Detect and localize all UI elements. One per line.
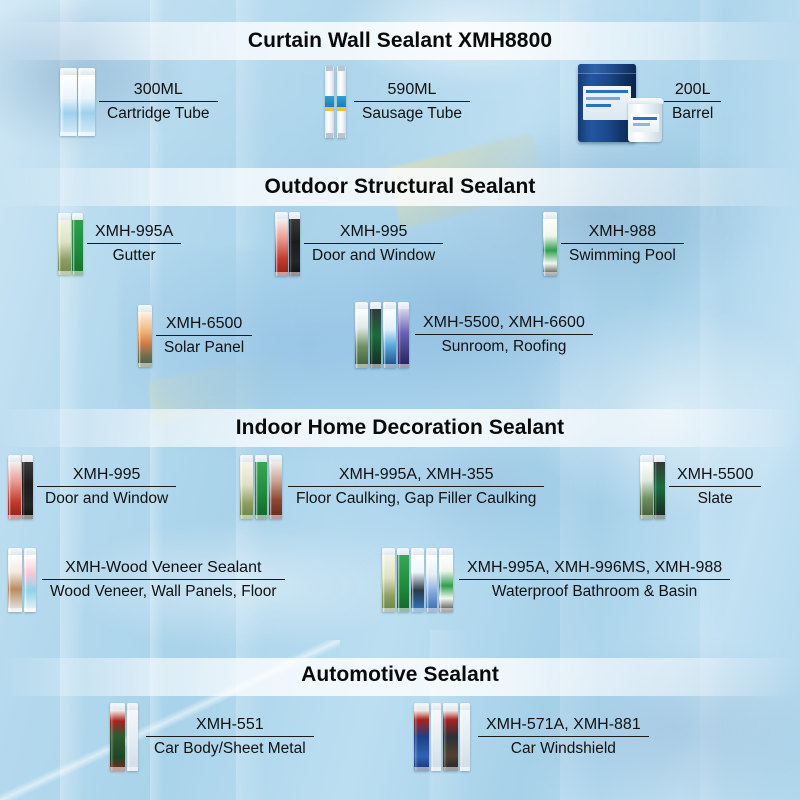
product-code: XMH-995 <box>332 222 416 243</box>
product-entry-xmh-995-door-window-indoor[interactable]: XMH-995 Door and Window <box>8 455 176 519</box>
product-labels: 200L Barrel <box>664 80 721 124</box>
product-image-tubes <box>240 455 282 519</box>
product-image-tubes <box>138 305 152 367</box>
product-labels: XMH-5500, XMH-6600 Sunroom, Roofing <box>415 313 593 357</box>
product-image-tubes <box>640 455 665 519</box>
product-use: Wood Veneer, Wall Panels, Floor <box>42 580 285 602</box>
product-entry-200l-barrel[interactable]: 200L Barrel <box>578 62 721 142</box>
product-image-tubes <box>275 212 300 276</box>
product-entry-xmh-995-door-window-outdoor[interactable]: XMH-995 Door and Window <box>275 212 443 276</box>
product-entry-xmh-6500-solar-panel[interactable]: XMH-6500 Solar Panel <box>138 305 252 367</box>
product-code: XMH-551 <box>188 715 272 736</box>
product-entry-xmh-wood-veneer[interactable]: XMH-Wood Veneer Sealant Wood Veneer, Wal… <box>8 548 285 612</box>
product-use: Floor Caulking, Gap Filler Caulking <box>288 487 544 509</box>
product-code: XMH-995A <box>87 222 181 243</box>
product-use: Cartridge Tube <box>99 102 218 124</box>
product-labels: XMH-995 Door and Window <box>304 222 443 266</box>
product-use: Slate <box>690 487 741 509</box>
product-code: XMH-995 <box>65 465 149 486</box>
section-title-automotive: Automotive Sealant <box>0 663 800 687</box>
product-image-tubes <box>355 302 409 368</box>
product-entry-xmh-5500-6600-sunroom[interactable]: XMH-5500, XMH-6600 Sunroom, Roofing <box>355 302 593 368</box>
product-code: 300ML <box>126 80 191 101</box>
product-use: Gutter <box>105 244 164 266</box>
product-image-tubes <box>543 212 557 276</box>
section-title-curtain-wall: Curtain Wall Sealant XMH8800 <box>0 29 800 53</box>
product-image-tubes <box>8 548 36 612</box>
product-labels: 590ML Sausage Tube <box>354 80 470 124</box>
product-labels: XMH-995A Gutter <box>87 222 181 266</box>
product-entry-xmh-995a-355-floor[interactable]: XMH-995A, XMH-355 Floor Caulking, Gap Fi… <box>240 455 544 519</box>
product-code: XMH-995A, XMH-355 <box>331 465 502 486</box>
product-labels: XMH-995 Door and Window <box>37 465 176 509</box>
product-labels: XMH-995A, XMH-996MS, XMH-988 Waterproof … <box>459 558 730 602</box>
product-entry-xmh-571a-881-windshield[interactable]: XMH-571A, XMH-881 Car Windshield <box>414 703 649 771</box>
product-use: Sausage Tube <box>354 102 470 124</box>
product-image-tubes <box>8 455 33 519</box>
product-use: Barrel <box>664 102 721 124</box>
product-image-tubes <box>414 703 470 771</box>
product-labels: XMH-995A, XMH-355 Floor Caulking, Gap Fi… <box>288 465 544 509</box>
product-use: Door and Window <box>37 487 176 509</box>
product-code: XMH-995A, XMH-996MS, XMH-988 <box>459 558 730 579</box>
product-entry-xmh-551-car-body[interactable]: XMH-551 Car Body/Sheet Metal <box>110 703 314 771</box>
product-code: 200L <box>667 80 719 101</box>
product-image-barrel-and-pail <box>578 62 662 142</box>
product-use: Car Body/Sheet Metal <box>146 737 314 759</box>
product-code: XMH-6500 <box>158 314 250 335</box>
product-use: Sunroom, Roofing <box>433 335 574 357</box>
product-use: Waterproof Bathroom & Basin <box>484 580 705 602</box>
product-use: Solar Panel <box>156 336 252 358</box>
product-use: Swimming Pool <box>561 244 684 266</box>
product-labels: XMH-6500 Solar Panel <box>156 314 252 358</box>
product-labels: XMH-551 Car Body/Sheet Metal <box>146 715 314 759</box>
barrel-pail <box>628 98 662 142</box>
product-image-tubes <box>110 703 138 771</box>
product-code: 590ML <box>380 80 445 101</box>
product-labels: 300ML Cartridge Tube <box>99 80 218 124</box>
product-entry-xmh-995a-996ms-988-bathroom[interactable]: XMH-995A, XMH-996MS, XMH-988 Waterproof … <box>382 548 730 612</box>
product-code: XMH-5500 <box>669 465 761 486</box>
product-labels: XMH-Wood Veneer Sealant Wood Veneer, Wal… <box>42 558 285 602</box>
product-entry-xmh-995a-gutter[interactable]: XMH-995A Gutter <box>58 213 181 275</box>
product-image-tubes <box>382 548 453 612</box>
product-labels: XMH-988 Swimming Pool <box>561 222 684 266</box>
product-entry-300ml-cartridge[interactable]: 300ML Cartridge Tube <box>60 68 218 136</box>
product-code: XMH-988 <box>581 222 665 243</box>
product-use: Car Windshield <box>503 737 624 759</box>
section-title-indoor: Indoor Home Decoration Sealant <box>0 416 800 440</box>
product-image-tubes <box>58 213 83 275</box>
product-code: XMH-Wood Veneer Sealant <box>57 558 269 579</box>
product-entry-xmh-988-swimming-pool[interactable]: XMH-988 Swimming Pool <box>543 212 684 276</box>
product-image-sausage-tubes <box>325 66 346 138</box>
product-image-cartridge-tubes <box>60 68 95 136</box>
product-code: XMH-571A, XMH-881 <box>478 715 649 736</box>
product-use: Door and Window <box>304 244 443 266</box>
product-labels: XMH-571A, XMH-881 Car Windshield <box>478 715 649 759</box>
product-entry-590ml-sausage[interactable]: 590ML Sausage Tube <box>325 66 470 138</box>
product-catalog-page: Curtain Wall Sealant XMH8800 300ML Cartr… <box>0 0 800 800</box>
product-entry-xmh-5500-slate[interactable]: XMH-5500 Slate <box>640 455 761 519</box>
product-labels: XMH-5500 Slate <box>669 465 761 509</box>
product-code: XMH-5500, XMH-6600 <box>415 313 593 334</box>
section-title-outdoor: Outdoor Structural Sealant <box>0 175 800 199</box>
